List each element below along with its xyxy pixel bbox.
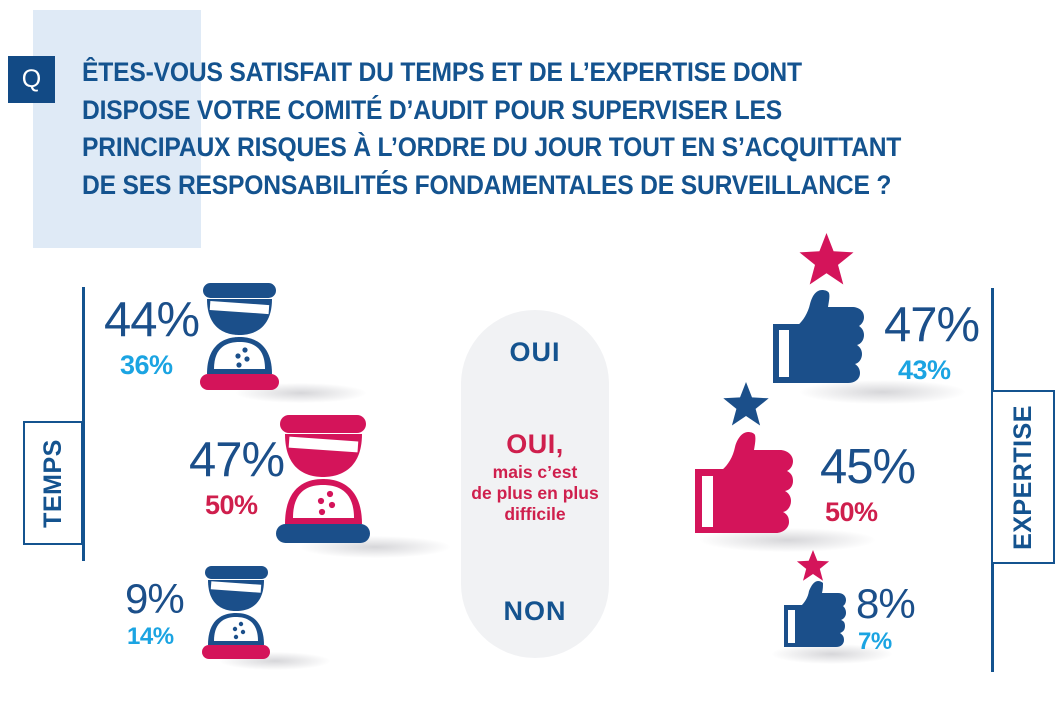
temps-label-text: TEMPS <box>39 439 68 528</box>
stat-pair-temps-oui-mais: 47% 50% <box>189 436 284 519</box>
expertise-label-text: EXPERTISE <box>1009 405 1038 550</box>
option-oui-mais-detail: mais c’est de plus en plus difficile <box>471 462 598 525</box>
option-non: NON <box>504 596 567 627</box>
option-oui-mais: OUI, mais c’est de plus en plus difficil… <box>471 429 598 525</box>
star-icon <box>796 549 830 582</box>
stat-secondary: 14% <box>127 625 184 649</box>
category-label-temps: TEMPS <box>23 421 83 545</box>
thumbs-up-icon <box>782 580 854 650</box>
stat-secondary: 50% <box>825 499 915 526</box>
stat-secondary: 50% <box>205 492 284 519</box>
stat-primary: 45% <box>820 443 915 492</box>
hourglass-icon <box>268 415 378 543</box>
stat-pair-expertise-non: 8% 7% <box>856 583 915 654</box>
hourglass-icon <box>196 566 276 659</box>
thumbs-up-icon <box>770 288 874 388</box>
question-badge: Q <box>8 56 55 103</box>
hourglass-icon <box>193 283 286 390</box>
stat-pair-temps-oui: 44% 36% <box>104 296 199 379</box>
star-icon <box>722 381 770 427</box>
thumbs-up-icon <box>692 430 804 538</box>
infographic-canvas: Q ÊTES-VOUS SATISFAIT DU TEMPS ET DE L’E… <box>0 0 1062 726</box>
stat-primary: 8% <box>856 583 915 625</box>
stat-primary: 47% <box>189 436 284 485</box>
stat-primary: 47% <box>884 301 979 350</box>
answer-options-pill: OUI OUI, mais c’est de plus en plus diff… <box>461 310 609 658</box>
option-oui-mais-strong: OUI, <box>471 429 598 460</box>
stat-primary: 9% <box>125 578 184 620</box>
stat-secondary: 43% <box>898 357 979 384</box>
stat-primary: 44% <box>104 296 199 345</box>
star-icon <box>798 232 855 286</box>
stat-secondary: 36% <box>120 352 199 379</box>
option-oui: OUI <box>509 337 560 368</box>
category-label-expertise: EXPERTISE <box>991 390 1055 564</box>
stat-pair-expertise-oui: 47% 43% <box>884 301 979 384</box>
page-title: ÊTES-VOUS SATISFAIT DU TEMPS ET DE L’EXP… <box>82 54 982 204</box>
stat-secondary: 7% <box>858 630 915 654</box>
stat-pair-expertise-oui-mais: 45% 50% <box>820 443 915 526</box>
stat-pair-temps-non: 9% 14% <box>125 578 184 649</box>
